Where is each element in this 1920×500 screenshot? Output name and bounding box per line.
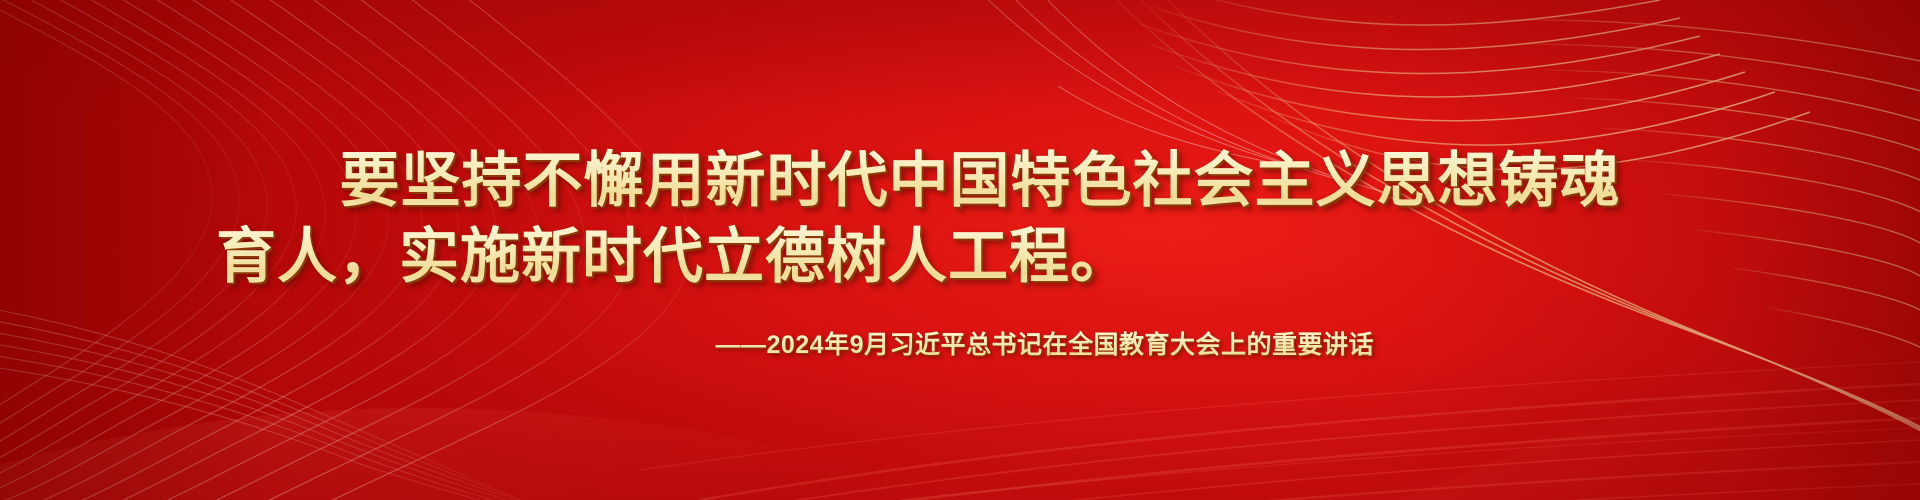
banner-content: 要坚持不懈用新时代中国特色社会主义思想铸魂 育人，实施新时代立德树人工程。 ——… — [0, 0, 1920, 500]
quote-block: 要坚持不懈用新时代中国特色社会主义思想铸魂 育人，实施新时代立德树人工程。 — [0, 144, 1920, 294]
propaganda-banner: 要坚持不懈用新时代中国特色社会主义思想铸魂 育人，实施新时代立德树人工程。 ——… — [0, 0, 1920, 500]
quote-line-2: 育人，实施新时代立德树人工程。 — [40, 220, 1880, 294]
quote-attribution: ——2024年9月习近平总书记在全国教育大会上的重要讲话 — [715, 328, 1374, 362]
attribution-row: ——2024年9月习近平总书记在全国教育大会上的重要讲话 — [0, 328, 1920, 362]
quote-line-1: 要坚持不懈用新时代中国特色社会主义思想铸魂 — [40, 144, 1880, 218]
